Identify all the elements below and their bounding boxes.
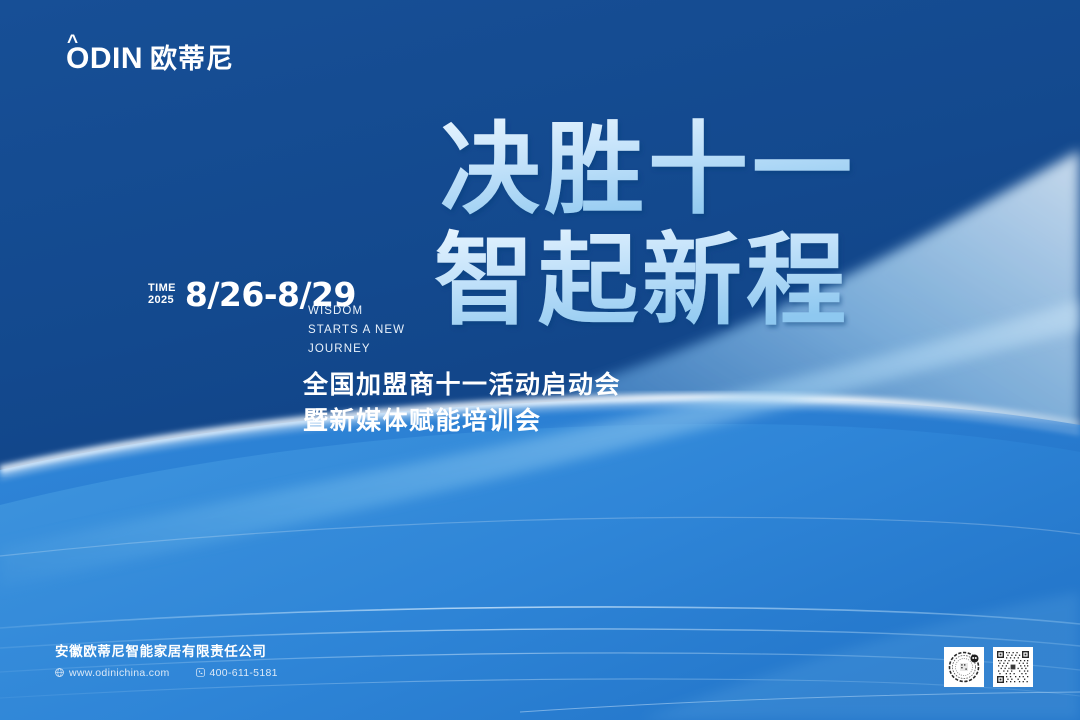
event-subtitle: 全国加盟商十一活动启动会 暨新媒体赋能培训会 <box>303 368 621 439</box>
logo-wordmark: ^ ODIN <box>66 44 143 74</box>
wechat-official-account-qr[interactable] <box>944 647 984 687</box>
poster-background <box>0 0 1080 720</box>
contact-row: www.odinichina.com 400-611-5181 <box>55 667 278 679</box>
time-label: TIME 2025 <box>148 283 176 305</box>
headline-line-2: 智起新程 <box>434 221 850 339</box>
time-label-top: TIME <box>148 283 176 294</box>
event-poster: ^ ODIN 欧蒂尼 决胜十一 智起新程 <box>0 0 1080 720</box>
company-name: 安徽欧蒂尼智能家居有限责任公司 <box>55 643 278 662</box>
phone-icon <box>196 668 205 677</box>
website-text: www.odinichina.com <box>69 667 170 679</box>
headline-calligraphy: 决胜十一 智起新程 <box>432 112 912 347</box>
website-line: www.odinichina.com <box>55 667 170 679</box>
globe-icon <box>55 668 64 677</box>
tagline-line-1: WISDOM <box>308 302 405 321</box>
footer-block: 安徽欧蒂尼智能家居有限责任公司 www.odinichina.com 400-6… <box>55 643 278 679</box>
mini-program-qr[interactable] <box>993 647 1033 687</box>
subtitle-line-1: 全国加盟商十一活动启动会 <box>303 368 621 404</box>
tagline-line-3: JOURNEY <box>308 340 405 359</box>
time-label-year: 2025 <box>148 295 176 306</box>
tagline-line-2: STARTS A NEW <box>308 321 405 340</box>
phone-text: 400-611-5181 <box>210 667 278 679</box>
logo-chinese-name: 欧蒂尼 <box>150 46 234 73</box>
headline-line-1: 决胜十一 <box>440 112 856 228</box>
english-tagline: WISDOM STARTS A NEW JOURNEY <box>308 302 405 359</box>
logo-circumflex-icon: ^ <box>67 33 79 52</box>
phone-line: 400-611-5181 <box>196 667 278 679</box>
qr-code-group <box>944 647 1033 687</box>
subtitle-line-2: 暨新媒体赋能培训会 <box>303 404 621 440</box>
brand-logo: ^ ODIN 欧蒂尼 <box>66 44 234 74</box>
